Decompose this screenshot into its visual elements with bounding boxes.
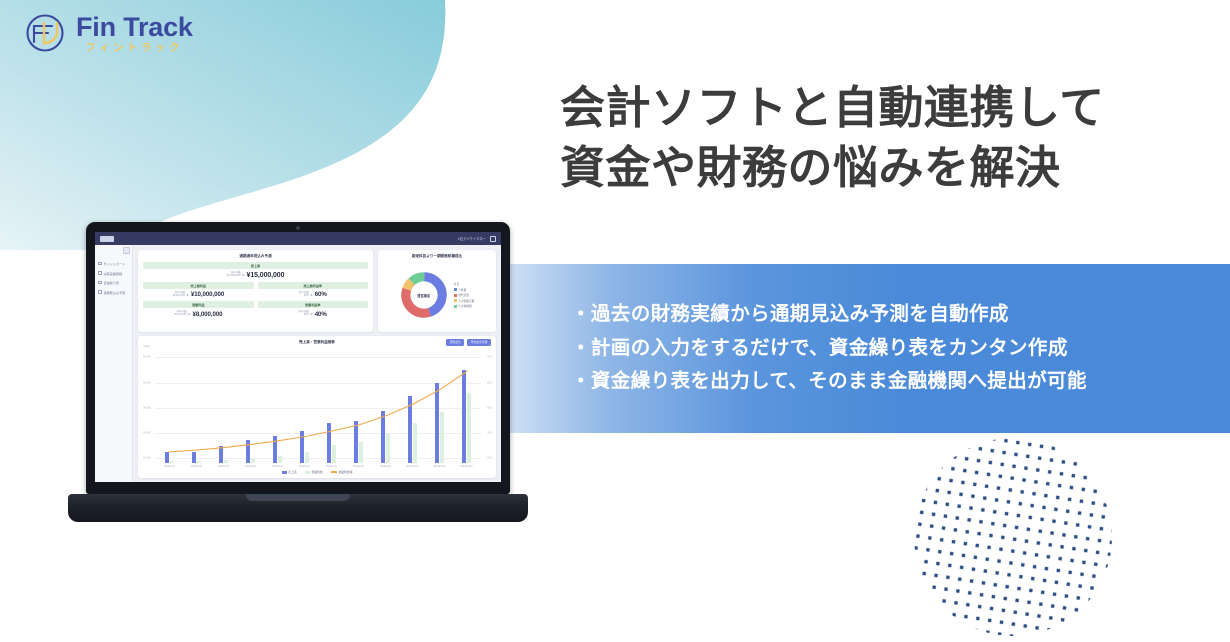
x-tick: 2024年8月 xyxy=(345,464,372,468)
chart-bar-group xyxy=(318,348,345,463)
chart-bar-group xyxy=(156,348,183,463)
feature-bullet: ・計画の入力をするだけで、資金繰り表をカンタン作成 xyxy=(571,339,1230,359)
kpi-previous: 前年実績 ¥9,000,000 xyxy=(172,292,185,298)
laptop-base xyxy=(68,494,528,522)
trend-arrow-icon: ▸ xyxy=(187,293,189,297)
x-tick: 2024年12月 xyxy=(453,464,480,468)
brand-name: Fin Track xyxy=(76,14,193,41)
trend-chart-card: 売上高・営業利益推移 月別表示 年次表示切替 (千円) (%) xyxy=(138,336,496,478)
kpi-previous: 前年実績 ¥13,000,000 xyxy=(227,272,241,278)
bar-revenue xyxy=(192,452,196,463)
legend-swatch-icon xyxy=(282,471,287,474)
sidebar-item-label: ダッシュボード xyxy=(104,261,126,266)
app-topbar: L社アバウトマネー xyxy=(95,232,501,245)
kpi-previous: 前年実績 58% xyxy=(299,292,309,298)
chart-bar-group xyxy=(237,348,264,463)
y-tick-right: 15.0 xyxy=(487,457,492,460)
y-tick: 50,000 xyxy=(143,356,151,359)
dashboard-icon xyxy=(98,262,102,266)
legend-title: 科目 xyxy=(454,282,475,286)
legend-swatch-icon xyxy=(454,294,457,297)
trend-arrow-icon: ▸ xyxy=(243,273,245,277)
bar-revenue xyxy=(381,411,385,463)
bar-revenue xyxy=(246,440,250,463)
bar-operating-profit xyxy=(224,460,228,463)
chart-y-axis-label: (千円) xyxy=(143,344,150,348)
feature-banner: ・過去の財務実績から通期見込み予測を自動作成 ・計画の入力をするだけで、資金繰り… xyxy=(507,264,1230,433)
bar-operating-profit xyxy=(170,461,174,463)
sidebar-item-forecast[interactable]: 通期見込み予測 xyxy=(98,290,129,295)
headline-line-1: 会計ソフトと自動連携して xyxy=(560,78,1105,138)
kpi-value: ¥10,000,000 xyxy=(191,291,224,298)
chart-bar-group xyxy=(372,348,399,463)
donut-legend: 科目 人件費 地代家賃 xyxy=(454,282,475,309)
app-logo-icon[interactable] xyxy=(100,236,114,242)
kpi-band-label: 営業利益 xyxy=(143,301,254,308)
trend-arrow-icon: ▸ xyxy=(189,312,191,316)
donut-chart: 運営構成 xyxy=(400,271,448,319)
chart-bar-group xyxy=(453,348,480,463)
donut-card-title: 勘定科目より一期間推移構成比 xyxy=(383,254,491,259)
legend-swatch-icon xyxy=(454,305,457,308)
bar-operating-profit xyxy=(278,456,282,463)
y-tick: 20,000 xyxy=(143,432,151,435)
donut-center-label: 運営構成 xyxy=(400,271,448,319)
y-tick: 10,000 xyxy=(143,457,151,460)
chart-bar-group xyxy=(183,348,210,463)
fintrack-monogram-icon xyxy=(22,10,70,58)
table-icon xyxy=(98,281,102,285)
chart-up-icon xyxy=(98,271,102,275)
laptop-lid: L社アバウトマネー ダッシュボード 決算実績登録 xyxy=(86,222,510,494)
chart-bar-group xyxy=(345,348,372,463)
kpi-previous: 前年実績 ¥5,000,000 xyxy=(174,311,187,317)
y-tick: 40,000 xyxy=(143,381,151,384)
bar-revenue xyxy=(165,452,169,463)
sidebar-item-dashboard[interactable]: ダッシュボード xyxy=(98,261,129,266)
x-tick: 2024年5月 xyxy=(264,464,291,468)
bar-operating-profit xyxy=(332,445,336,463)
y-tick: 30,000 xyxy=(143,406,151,409)
x-tick: 2024年10月 xyxy=(399,464,426,468)
feature-bullet: ・資金繰り表を出力して、そのまま金融機関へ提出が可能 xyxy=(571,372,1230,392)
chart-plot-area: (千円) (%) 50,000 40,000 30,000 20,000 10 xyxy=(155,348,481,463)
x-tick: 2024年7月 xyxy=(318,464,345,468)
brand-kana: フィントラック xyxy=(76,44,193,54)
y-tick-right: 30.0 xyxy=(487,432,492,435)
chart-title: 売上高・営業利益推移 xyxy=(299,340,335,345)
page-title: 会計ソフトと自動連携して 資金や財務の悩みを解決 xyxy=(560,78,1105,198)
sidebar-item-label: 資金繰り表 xyxy=(104,280,119,285)
chart-legend: 売上高 営業利益 営業利益率 xyxy=(143,470,491,474)
x-tick: 2024年2月 xyxy=(183,464,210,468)
chart-view-monthly-button[interactable]: 月別表示 xyxy=(446,339,464,346)
bar-revenue xyxy=(408,396,412,463)
sidebar-item-label: 通期見込み予測 xyxy=(104,290,126,295)
kpi-band-label: 売上高 xyxy=(143,262,368,269)
dot-pattern-decoration xyxy=(913,437,1113,637)
sidebar-item-cashflow[interactable]: 資金繰り表 xyxy=(98,280,129,285)
bar-operating-profit xyxy=(197,461,201,463)
gear-icon[interactable] xyxy=(490,236,496,242)
kpi-row-gross: 売上総利益 前年実績 ¥9,000,000 ▸ ¥10,000,000 xyxy=(143,282,368,302)
bar-operating-profit xyxy=(440,412,444,463)
bar-operating-profit xyxy=(413,423,417,463)
kpi-row-revenue: 売上高 前年実績 ¥13,000,000 ▸ ¥15,000,000 xyxy=(143,262,368,282)
bar-revenue xyxy=(462,370,466,463)
legend-item: その他経費 xyxy=(454,304,475,308)
kpi-band-label: 営業利益率 xyxy=(258,301,369,308)
legend-swatch-icon xyxy=(305,471,310,474)
headline-line-2: 資金や財務の悩みを解決 xyxy=(560,138,1105,198)
legend-line-icon xyxy=(331,471,337,472)
chart-bar-group xyxy=(426,348,453,463)
chart-bar-group xyxy=(399,348,426,463)
bar-operating-profit xyxy=(467,393,471,463)
sidebar-item-results[interactable]: 決算実績登録 xyxy=(98,271,129,276)
kpi-value: ¥15,000,000 xyxy=(247,272,285,279)
sidebar: ダッシュボード 決算実績登録 資金繰り表 通期見込み予測 xyxy=(95,245,133,482)
bar-revenue xyxy=(327,423,331,463)
y-tick-right: 60.0 xyxy=(487,381,492,384)
x-tick: 2024年6月 xyxy=(291,464,318,468)
sidebar-item-label: 決算実績登録 xyxy=(104,271,123,276)
kpi-value: 40% xyxy=(315,311,327,318)
donut-card: 勘定科目より一期間推移構成比 運営構成 xyxy=(378,250,496,332)
x-tick: 2024年3月 xyxy=(210,464,237,468)
kpi-value: 60% xyxy=(315,291,327,298)
chart-bar-group xyxy=(264,348,291,463)
chart-legend-item: 営業利益率 xyxy=(331,470,353,474)
bar-revenue xyxy=(219,446,223,463)
chart-legend-item: 売上高 xyxy=(282,470,297,474)
legend-item: 人件費 xyxy=(454,288,475,292)
legend-item: その他販売費 xyxy=(454,299,475,303)
legend-swatch-icon xyxy=(454,288,457,291)
webcam-icon xyxy=(296,226,300,230)
bar-revenue xyxy=(273,436,277,463)
chart-bar-group xyxy=(291,348,318,463)
bar-operating-profit xyxy=(359,442,363,463)
laptop-mockup: L社アバウトマネー ダッシュボード 決算実績登録 xyxy=(68,222,528,532)
bar-revenue xyxy=(300,431,304,463)
user-menu[interactable]: L社アバウトマネー xyxy=(458,236,486,241)
chart-y-axis-label-right: (%) xyxy=(487,344,491,347)
kpi-card-title: 通期通年見込み予測 xyxy=(143,254,368,259)
forecast-icon xyxy=(98,290,102,294)
x-tick: 2024年1月 xyxy=(156,464,183,468)
kpi-band-label: 売上総利益率 xyxy=(258,282,369,289)
bar-operating-profit xyxy=(305,452,309,463)
chart-x-axis: 2024年1月2024年2月2024年3月2024年4月2024年5月2024年… xyxy=(155,464,481,468)
bar-revenue xyxy=(435,383,439,463)
x-tick: 2024年9月 xyxy=(372,464,399,468)
bar-revenue xyxy=(354,421,358,463)
main-content: 通期通年見込み予測 売上高 前年実績 ¥13,000,000 ▸ ¥15, xyxy=(133,245,501,482)
brand-logo: Fin Track フィントラック xyxy=(22,10,193,58)
legend-swatch-icon xyxy=(454,299,457,302)
kpi-band-label: 売上総利益 xyxy=(143,282,254,289)
y-tick-right: 75.0 xyxy=(487,356,492,359)
bar-operating-profit xyxy=(386,434,390,463)
app-screen: L社アバウトマネー ダッシュボード 決算実績登録 xyxy=(95,232,501,482)
feature-bullet: ・過去の財務実績から通期見込み予測を自動作成 xyxy=(571,305,1230,325)
chart-bar-group xyxy=(210,348,237,463)
collapse-panel-icon[interactable] xyxy=(123,247,130,254)
kpi-value: ¥8,000,000 xyxy=(193,311,223,318)
legend-item: 地代家賃 xyxy=(454,293,475,297)
kpi-card: 通期通年見込み予測 売上高 前年実績 ¥13,000,000 ▸ ¥15, xyxy=(138,250,373,332)
kpi-previous: 前年実績 50% xyxy=(299,311,309,317)
bar-operating-profit xyxy=(251,458,255,463)
x-tick: 2024年11月 xyxy=(426,464,453,468)
y-tick-right: 45.0 xyxy=(487,406,492,409)
trend-arrow-icon: ▸ xyxy=(311,312,313,316)
x-tick: 2024年4月 xyxy=(237,464,264,468)
chart-legend-item: 営業利益 xyxy=(305,470,323,474)
chart-bars xyxy=(155,348,481,463)
kpi-row-operating: 営業利益 前年実績 ¥5,000,000 ▸ ¥8,000,000 xyxy=(143,301,368,321)
trend-arrow-icon: ▸ xyxy=(311,293,313,297)
